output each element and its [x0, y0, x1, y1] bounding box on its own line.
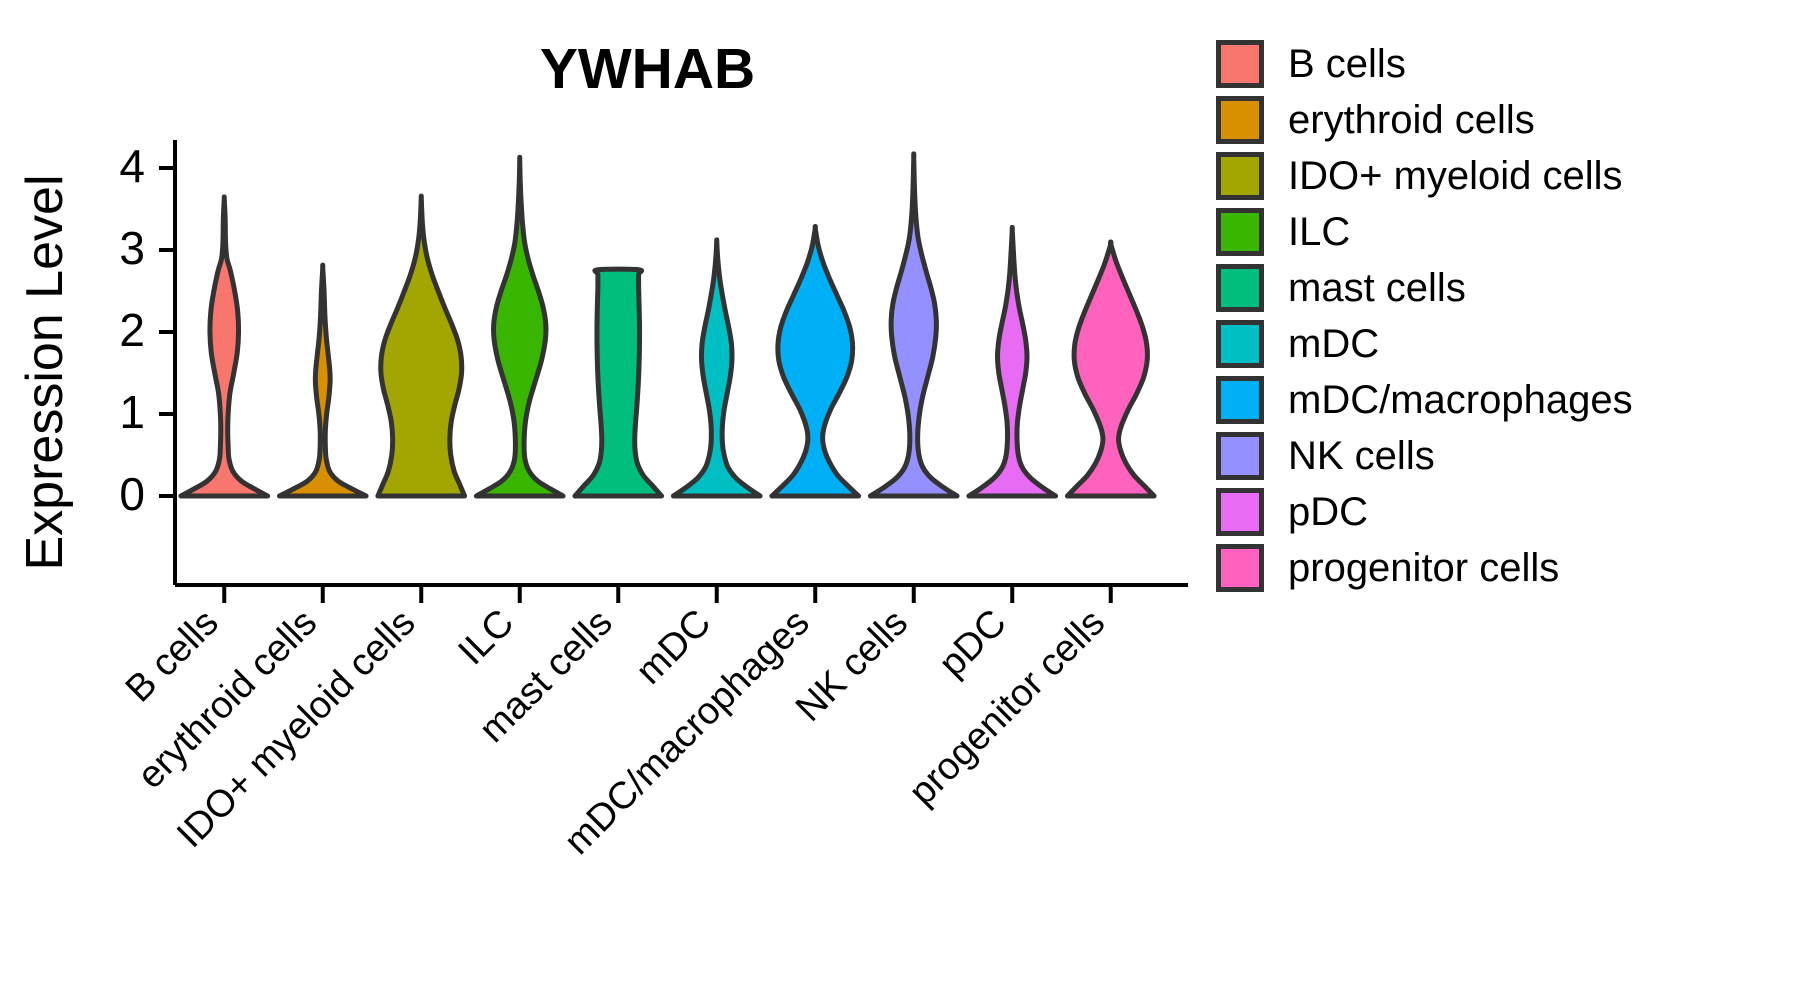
legend-item-mast-cells[interactable]: mast cells: [1216, 260, 1633, 316]
y-tick-label-4: 4: [119, 140, 145, 192]
legend-swatch-icon: [1216, 96, 1264, 144]
violin-ido-myeloid-cells: [378, 196, 465, 496]
legend-item-ido-myeloid-cells[interactable]: IDO+ myeloid cells: [1216, 148, 1633, 204]
y-tick-label-2: 2: [119, 304, 145, 356]
legend-item-pdc[interactable]: pDC: [1216, 484, 1633, 540]
y-tick-label-3: 3: [119, 222, 145, 274]
legend-swatch-icon: [1216, 152, 1264, 200]
legend-swatch-icon: [1216, 320, 1264, 368]
legend-item-mdc[interactable]: mDC: [1216, 316, 1633, 372]
violin-mdc-macrophages: [772, 227, 859, 496]
legend-swatch-icon: [1216, 376, 1264, 424]
legend-label: B cells: [1288, 44, 1406, 84]
legend-item-nk-cells[interactable]: NK cells: [1216, 428, 1633, 484]
legend-item-mdc-macrophages[interactable]: mDC/macrophages: [1216, 372, 1633, 428]
legend-label: mDC: [1288, 324, 1379, 364]
y-tick-label-0: 0: [119, 468, 145, 520]
x-tick-label-pdc: pDC: [931, 602, 1014, 685]
violin-ilc: [476, 157, 563, 496]
legend: B cellserythroid cellsIDO+ myeloid cells…: [1216, 36, 1633, 596]
legend-label: erythroid cells: [1288, 100, 1535, 140]
legend-item-ilc[interactable]: ILC: [1216, 204, 1633, 260]
legend-label: mast cells: [1288, 268, 1466, 308]
legend-item-b-cells[interactable]: B cells: [1216, 36, 1633, 92]
axis-labels-layer: 01234B cellserythroid cellsIDO+ myeloid …: [16, 37, 1113, 863]
legend-label: ILC: [1288, 212, 1350, 252]
legend-swatch-icon: [1216, 432, 1264, 480]
legend-item-erythroid-cells[interactable]: erythroid cells: [1216, 92, 1633, 148]
y-axis-title: Expression Level: [16, 175, 74, 571]
legend-swatch-icon: [1216, 40, 1264, 88]
x-tick-label-ilc: ILC: [451, 602, 523, 674]
y-tick-label-1: 1: [119, 386, 145, 438]
violin-progenitor-cells: [1067, 242, 1154, 496]
legend-swatch-icon: [1216, 208, 1264, 256]
chart-title: YWHAB: [540, 37, 755, 101]
violin-pdc: [969, 227, 1056, 496]
legend-label: IDO+ myeloid cells: [1288, 156, 1623, 196]
legend-swatch-icon: [1216, 264, 1264, 312]
x-tick-label-mdc: mDC: [628, 602, 719, 693]
legend-swatch-icon: [1216, 544, 1264, 592]
violin-plot-figure: 01234B cellserythroid cellsIDO+ myeloid …: [0, 0, 1795, 1002]
legend-label: NK cells: [1288, 436, 1435, 476]
violin-erythroid-cells: [279, 265, 366, 496]
legend-item-progenitor-cells[interactable]: progenitor cells: [1216, 540, 1633, 596]
violin-b-cells: [181, 197, 268, 496]
legend-label: pDC: [1288, 492, 1368, 532]
legend-label: progenitor cells: [1288, 548, 1559, 588]
violins-layer: [181, 154, 1154, 496]
legend-label: mDC/macrophages: [1288, 380, 1633, 420]
legend-swatch-icon: [1216, 488, 1264, 536]
violin-mdc: [673, 240, 760, 496]
violin-mast-cells: [575, 269, 662, 496]
violin-nk-cells: [870, 154, 957, 496]
